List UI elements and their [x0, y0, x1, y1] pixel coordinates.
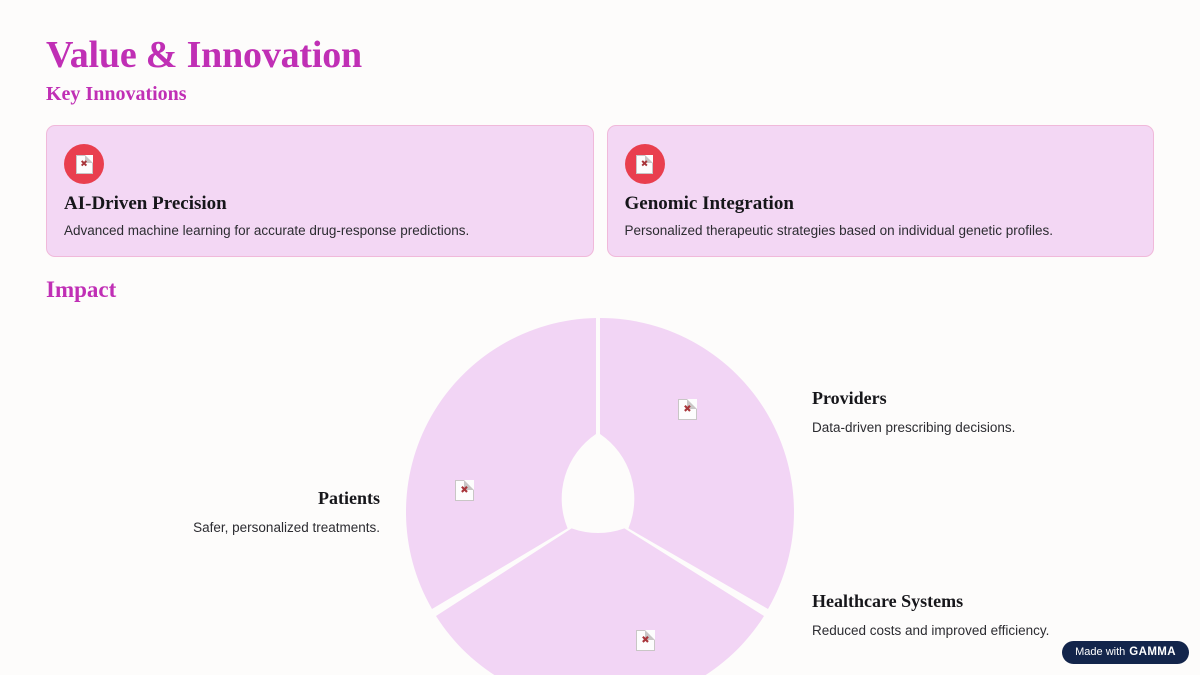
impact-donut-chart: ✖ ✖ ✖ [406, 318, 794, 675]
donut-segment-icon-providers: ✖ [678, 399, 697, 420]
donut-segment-icon-patients: ✖ [455, 480, 474, 501]
broken-image-x-mark: ✖ [637, 160, 652, 169]
page-title: Value & Innovation [46, 33, 362, 78]
card-icon-badge: ✖ [64, 144, 104, 184]
impact-label-providers: Providers Data-driven prescribing decisi… [812, 387, 1112, 437]
innovation-card-ai-driven-precision[interactable]: ✖ AI-Driven Precision Advanced machine l… [46, 125, 594, 257]
impact-label-description: Safer, personalized treatments. [100, 518, 380, 537]
broken-image-x-mark: ✖ [77, 160, 92, 169]
broken-image-icon: ✖ [455, 480, 474, 501]
card-title: Genomic Integration [625, 192, 865, 215]
impact-label-description: Reduced costs and improved efficiency. [812, 621, 1132, 640]
impact-label-title: Patients [100, 487, 380, 510]
card-description: Advanced machine learning for accurate d… [64, 221, 576, 240]
broken-image-x-mark: ✖ [637, 636, 654, 646]
card-icon-badge: ✖ [625, 144, 665, 184]
impact-label-patients: Patients Safer, personalized treatments. [100, 487, 380, 537]
card-description: Personalized therapeutic strategies base… [625, 221, 1137, 240]
broken-image-icon: ✖ [636, 155, 653, 174]
made-with-gamma-badge[interactable]: Made with GAMMA [1062, 641, 1189, 664]
broken-image-icon: ✖ [678, 399, 697, 420]
impact-label-description: Data-driven prescribing decisions. [812, 418, 1112, 437]
impact-label-title: Providers [812, 387, 1112, 410]
donut-segment-icon-healthcare-systems: ✖ [636, 630, 655, 651]
impact-label-healthcare-systems: Healthcare Systems Reduced costs and imp… [812, 590, 1132, 640]
broken-image-x-mark: ✖ [679, 405, 696, 415]
card-title: AI-Driven Precision [64, 192, 304, 215]
broken-image-icon: ✖ [76, 155, 93, 174]
broken-image-x-mark: ✖ [456, 486, 473, 496]
innovation-card-genomic-integration[interactable]: ✖ Genomic Integration Personalized thera… [607, 125, 1155, 257]
broken-image-icon: ✖ [636, 630, 655, 651]
section-heading-impact: Impact [46, 276, 116, 304]
section-heading-key-innovations: Key Innovations [46, 82, 187, 106]
innovation-card-list: ✖ AI-Driven Precision Advanced machine l… [46, 125, 1154, 257]
impact-label-title: Healthcare Systems [812, 590, 1132, 613]
badge-prefix-text: Made with [1075, 647, 1125, 658]
badge-brand-text: GAMMA [1129, 647, 1176, 659]
